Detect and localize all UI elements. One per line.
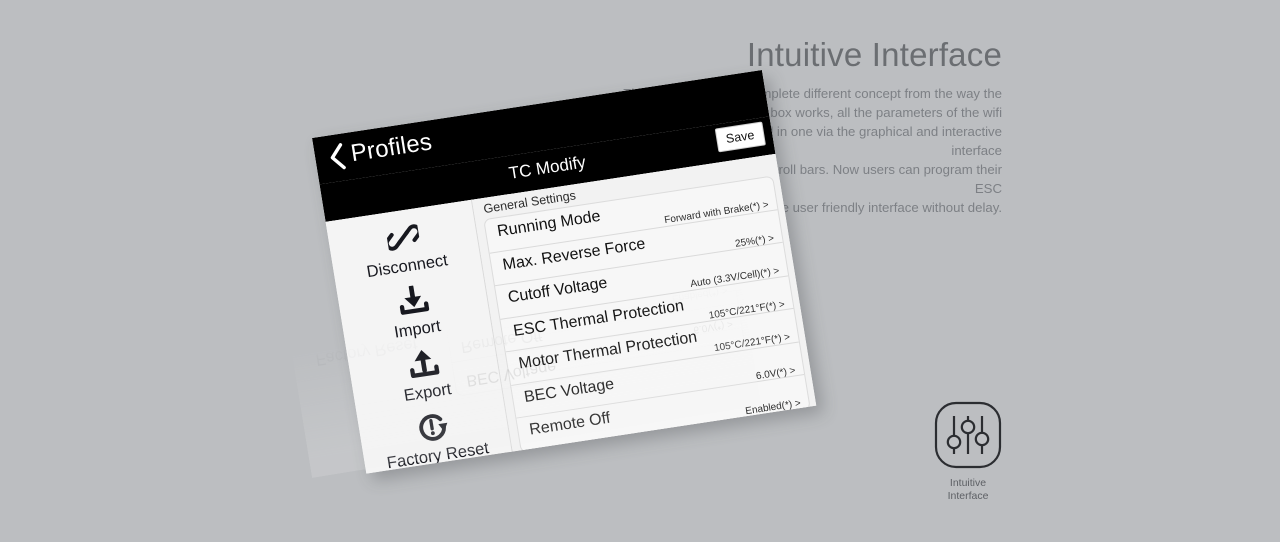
feature-badge: Intuitive Interface xyxy=(932,400,1004,503)
device-stage: Profiles TC Modify xyxy=(300,120,800,540)
settings-content: Save General Settings Running Mode Forwa… xyxy=(472,154,816,452)
app-screen: Profiles TC Modify xyxy=(312,70,816,474)
back-button-label: Profiles xyxy=(349,128,434,168)
setting-name: Running Mode xyxy=(496,208,602,241)
setting-name: Remote Off xyxy=(528,410,611,440)
settings-list: Running Mode Forward with Brake(*) > Max… xyxy=(483,175,811,452)
badge-label-line2: Interface xyxy=(932,490,1004,503)
badge-label-line1: Intuitive xyxy=(932,477,1004,490)
upload-tray-icon xyxy=(398,342,448,386)
chevron-left-icon xyxy=(327,142,346,171)
link-icon xyxy=(378,216,428,260)
back-button[interactable]: Profiles xyxy=(327,128,434,171)
reset-warning-icon xyxy=(408,405,458,449)
sliders-icon xyxy=(933,400,1003,470)
download-tray-icon xyxy=(388,279,438,323)
setting-value: Enabled(*) > xyxy=(745,398,802,417)
feature-badge-label: Intuitive Interface xyxy=(932,477,1004,503)
page-title: Intuitive Interface xyxy=(582,34,1002,75)
